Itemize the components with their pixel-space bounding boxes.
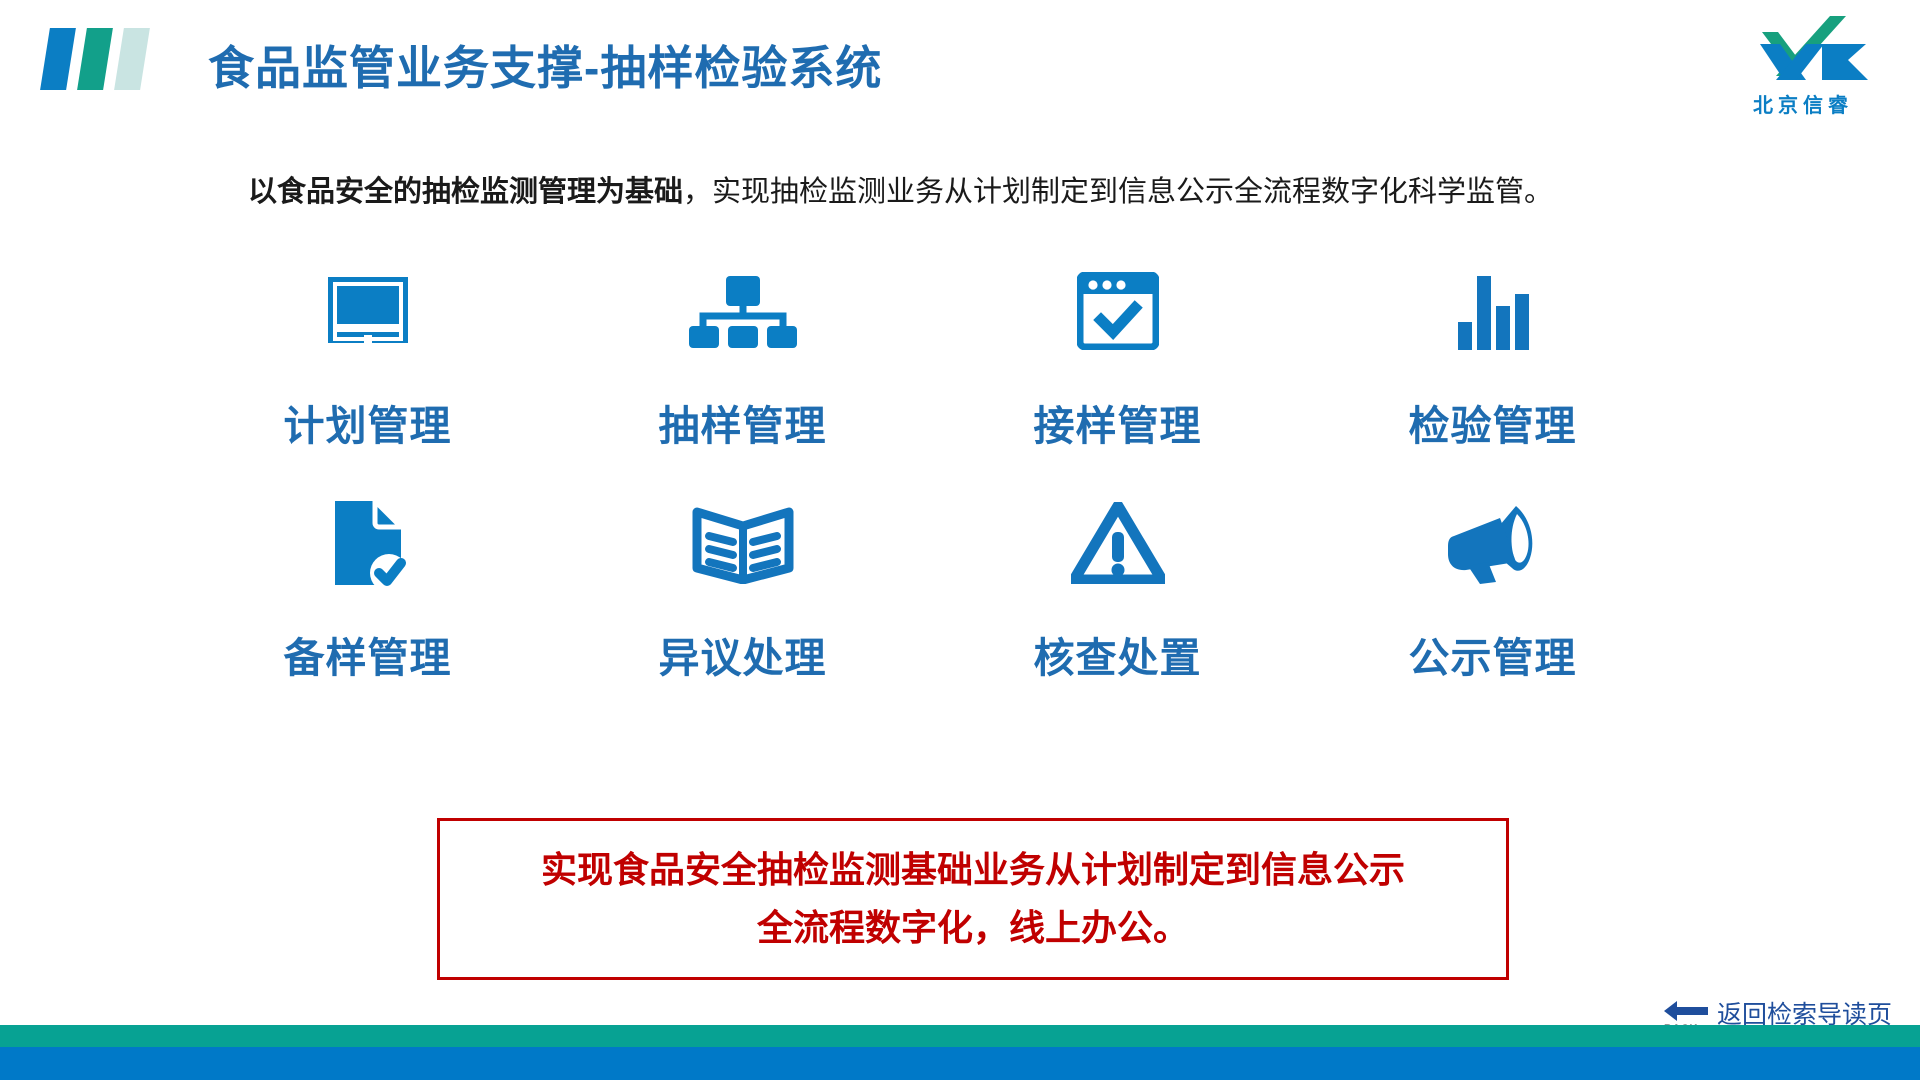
callout-text: 实现食品安全抽检监测基础业务从计划制定到信息公示全流程数字化，线上办公。 [533, 841, 1413, 958]
open-book-icon [678, 484, 808, 602]
accent-bar-1 [40, 28, 76, 90]
footer-bar-blue [0, 1047, 1920, 1080]
module-item-inspection[interactable]: 检验管理 [1305, 252, 1680, 484]
accent-bar-2 [77, 28, 113, 90]
warning-triangle-icon [1053, 484, 1183, 602]
module-item-verification[interactable]: 核查处置 [930, 484, 1305, 716]
module-item-sampling[interactable]: 抽样管理 [555, 252, 930, 484]
module-item-reserve[interactable]: 备样管理 [180, 484, 555, 716]
module-label: 核查处置 [1034, 624, 1202, 684]
logo-text: 北京信睿 [1718, 89, 1888, 118]
document-check-icon [303, 484, 433, 602]
callout-box: 实现食品安全抽检监测基础业务从计划制定到信息公示全流程数字化，线上办公。 [437, 818, 1509, 980]
module-item-receive[interactable]: 接样管理 [930, 252, 1305, 484]
module-label: 计划管理 [284, 392, 452, 452]
subtitle-rest: ，实现抽检监测业务从计划制定到信息公示全流程数字化科学监管。 [683, 176, 1553, 208]
page-title: 食品监管业务支撑-抽样检验系统 [208, 32, 882, 98]
module-item-objection[interactable]: 异议处理 [555, 484, 930, 716]
megaphone-icon [1428, 484, 1558, 602]
company-logo: 北京信睿 [1718, 14, 1888, 126]
module-label: 公示管理 [1409, 624, 1577, 684]
module-label: 备样管理 [284, 624, 452, 684]
accent-bar-3 [114, 28, 150, 90]
slide-root: 食品监管业务支撑-抽样检验系统 北京信睿 以食品安全的抽检监测管理为基础，实现抽… [0, 0, 1920, 1080]
header-accent-bars [45, 28, 145, 90]
xr-checkmark-logo-icon [1718, 14, 1888, 88]
browser-check-icon [1053, 252, 1183, 370]
module-item-publicity[interactable]: 公示管理 [1305, 484, 1680, 716]
module-label: 接样管理 [1034, 392, 1202, 452]
monitor-icon [303, 252, 433, 370]
subtitle: 以食品安全的抽检监测管理为基础，实现抽检监测业务从计划制定到信息公示全流程数字化… [248, 168, 1553, 210]
module-item-plan[interactable]: 计划管理 [180, 252, 555, 484]
footer-bar-teal [0, 1025, 1920, 1047]
module-label: 抽样管理 [659, 392, 827, 452]
module-grid: 计划管理 抽样管理 [180, 252, 1680, 716]
module-label: 检验管理 [1409, 392, 1577, 452]
module-label: 异议处理 [659, 624, 827, 684]
bar-chart-icon [1428, 252, 1558, 370]
subtitle-bold: 以食品安全的抽检监测管理为基础 [248, 176, 683, 208]
hierarchy-icon [678, 252, 808, 370]
